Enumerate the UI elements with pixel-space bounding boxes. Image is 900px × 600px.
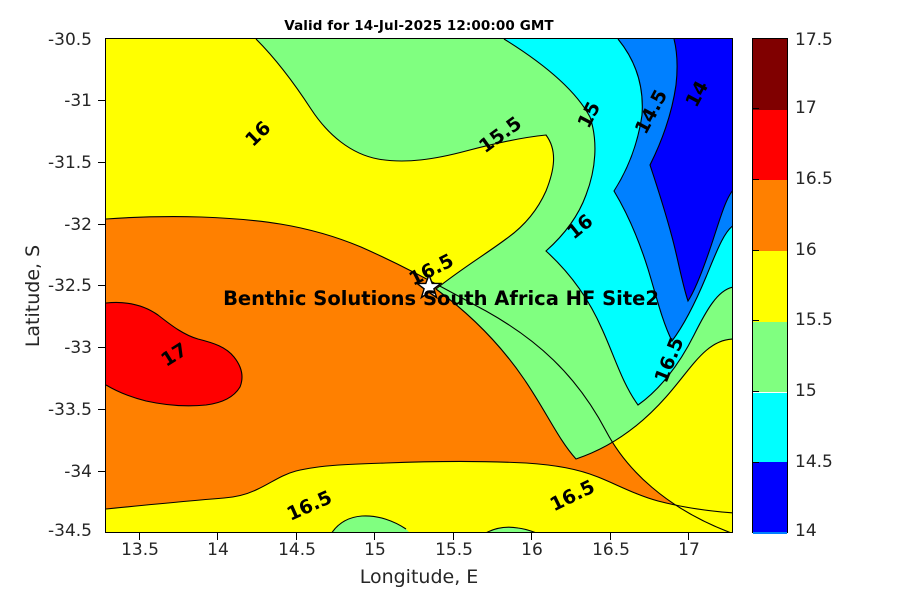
- colorbar-tick-16: [752, 250, 759, 251]
- colorbar-band-16-16.5: [753, 180, 787, 251]
- x-tick-16.5: [610, 533, 611, 540]
- colorbar-label-15: 15: [795, 381, 817, 401]
- colorbar-label-16: 16: [795, 240, 817, 260]
- y-tick-label--34: -34: [0, 462, 92, 482]
- y-tick-label--32: -32: [0, 215, 92, 235]
- x-tick-label-17: 17: [678, 540, 700, 560]
- y-tick--34: [98, 471, 105, 472]
- x-tick-15.5: [453, 533, 454, 540]
- colorbar-band-14.5-15: [753, 393, 787, 464]
- colorbar-tick-14.5: [752, 462, 759, 463]
- x-tick-label-16.5: 16.5: [592, 540, 630, 560]
- y-tick--31.5: [98, 162, 105, 163]
- y-tick--33: [98, 347, 105, 348]
- x-tick-15: [374, 533, 375, 540]
- colorbar-tick-15: [752, 391, 759, 392]
- y-tick-label--33: -33: [0, 338, 92, 358]
- x-tick-16: [531, 533, 532, 540]
- y-tick--31: [98, 100, 105, 101]
- y-tick--33.5: [98, 409, 105, 410]
- y-axis-title: Latitude, S: [22, 201, 44, 391]
- plot-title: Valid for 14-Jul-2025 12:00:00 GMT: [105, 18, 733, 34]
- colorbar-band-15-15.5: [753, 322, 787, 393]
- colorbar[interactable]: [752, 38, 788, 533]
- x-tick-14: [217, 533, 218, 540]
- contour-plot-area: 16 15.5 15 14.5 14 16 16.5 17 16.5 16.5 …: [105, 38, 733, 533]
- x-tick-label-15: 15: [364, 540, 386, 560]
- y-tick-label--31.5: -31.5: [0, 153, 92, 173]
- x-tick-label-13.5: 13.5: [121, 540, 159, 560]
- x-tick-14.5: [296, 533, 297, 540]
- colorbar-band-15.5-16: [753, 251, 787, 322]
- contour-plot-figure: Valid for 14-Jul-2025 12:00:00 GMT: [0, 0, 900, 600]
- y-tick--32: [98, 224, 105, 225]
- x-tick-label-14.5: 14.5: [278, 540, 316, 560]
- x-tick-label-16: 16: [521, 540, 543, 560]
- colorbar-band-below-14: [753, 462, 786, 532]
- x-axis-title: Longitude, E: [105, 566, 733, 588]
- x-tick-label-15.5: 15.5: [435, 540, 473, 560]
- colorbar-tick-17: [752, 108, 759, 109]
- colorbar-tick-16.5: [752, 179, 759, 180]
- y-tick--32.5: [98, 285, 105, 286]
- colorbar-label-16.5: 16.5: [795, 169, 833, 189]
- colorbar-label-14: 14: [795, 521, 817, 541]
- colorbar-label-14.5: 14.5: [795, 452, 833, 472]
- y-tick-label--30.5: -30.5: [0, 30, 92, 50]
- y-tick-label--33.5: -33.5: [0, 400, 92, 420]
- colorbar-band-16.5-17: [753, 110, 787, 181]
- x-tick-label-14: 14: [207, 540, 229, 560]
- colorbar-label-17: 17: [795, 98, 817, 118]
- colorbar-label-15.5: 15.5: [795, 310, 833, 330]
- y-tick-label--32.5: -32.5: [0, 276, 92, 296]
- colorbar-tick-15.5: [752, 320, 759, 321]
- colorbar-label-17.5: 17.5: [795, 30, 833, 50]
- y-tick-label--34.5: -34.5: [0, 521, 92, 541]
- y-tick-label--31: -31: [0, 91, 92, 111]
- x-tick-13.5: [139, 533, 140, 540]
- x-tick-17: [688, 533, 689, 540]
- site-name-label: Benthic Solutions South Africa HF Site2: [223, 287, 659, 310]
- colorbar-band-17-17.5: [753, 39, 787, 110]
